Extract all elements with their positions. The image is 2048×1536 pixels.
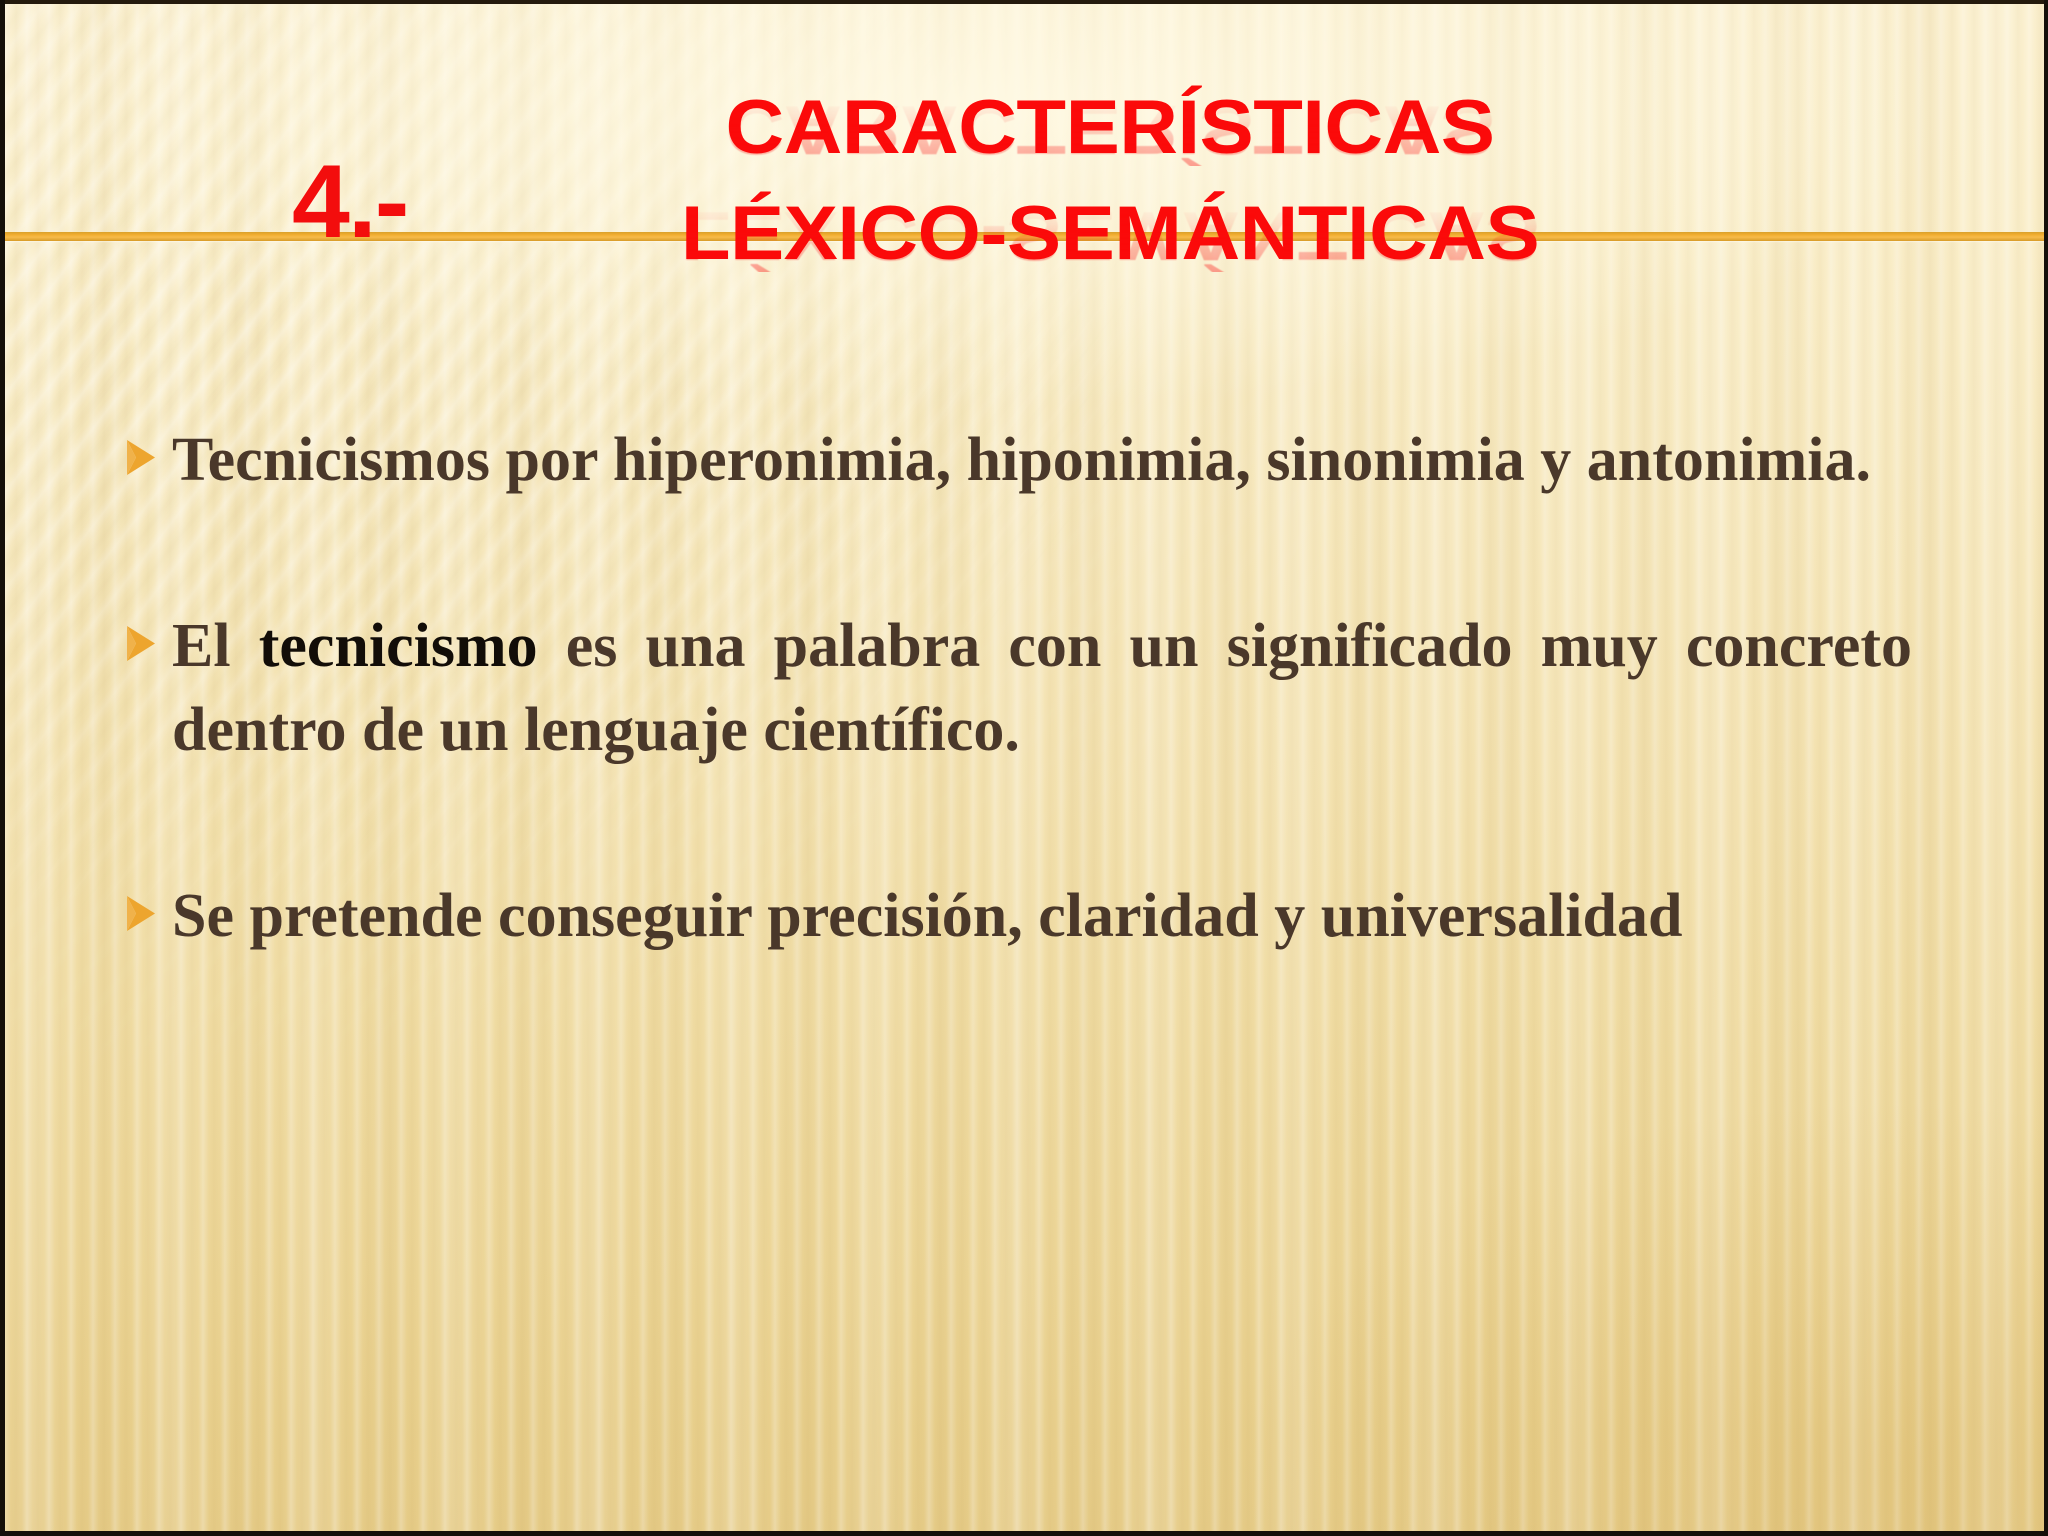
bullet-arrow-icon-2 <box>110 604 172 666</box>
slide: 4.- CARACTERÍSTICAS CARACTERÍSTICAS LÉXI… <box>0 0 2048 1536</box>
bullet-item-3: Se pretende conseguir precisión, clarida… <box>110 874 1940 958</box>
bullet-text-2-run-0: El <box>172 612 259 680</box>
bullet-arrow-icon-1 <box>110 418 172 480</box>
slide-body: Tecnicismos por hiperonimia, hiponimia, … <box>110 418 1940 958</box>
bullet-text-1: Tecnicismos por hiperonimia, hiponimia, … <box>172 418 1892 502</box>
bullet-arrow-icon-3 <box>110 874 172 936</box>
bullet-text-3: Se pretende conseguir precisión, clarida… <box>172 874 1892 958</box>
bullet-item-1: Tecnicismos por hiperonimia, hiponimia, … <box>110 418 1940 502</box>
bullet-item-2: El tecnicismo es una palabra con un sign… <box>110 604 1940 772</box>
title-line-2-wrap: LÉXICO-SEMÁNTICAS LÉXICO-SEMÁNTICAS <box>690 194 1530 282</box>
section-number: 4.- <box>292 150 407 254</box>
bullet-text-2: El tecnicismo es una palabra con un sign… <box>172 604 1912 772</box>
bullet-text-3-run-0: Se pretende conseguir precisión, clarida… <box>172 882 1683 950</box>
slide-title: CARACTERÍSTICAS CARACTERÍSTICAS LÉXICO-S… <box>690 88 1530 282</box>
bullet-text-2-emphasis: tecnicismo <box>259 612 538 680</box>
bullet-text-1-run-0: Tecnicismos por hiperonimia, hiponimia, … <box>172 426 1871 494</box>
title-line-1: CARACTERÍSTICAS <box>661 88 1560 168</box>
title-line-1-wrap: CARACTERÍSTICAS CARACTERÍSTICAS <box>690 88 1530 176</box>
title-line-2: LÉXICO-SEMÁNTICAS <box>661 194 1560 274</box>
